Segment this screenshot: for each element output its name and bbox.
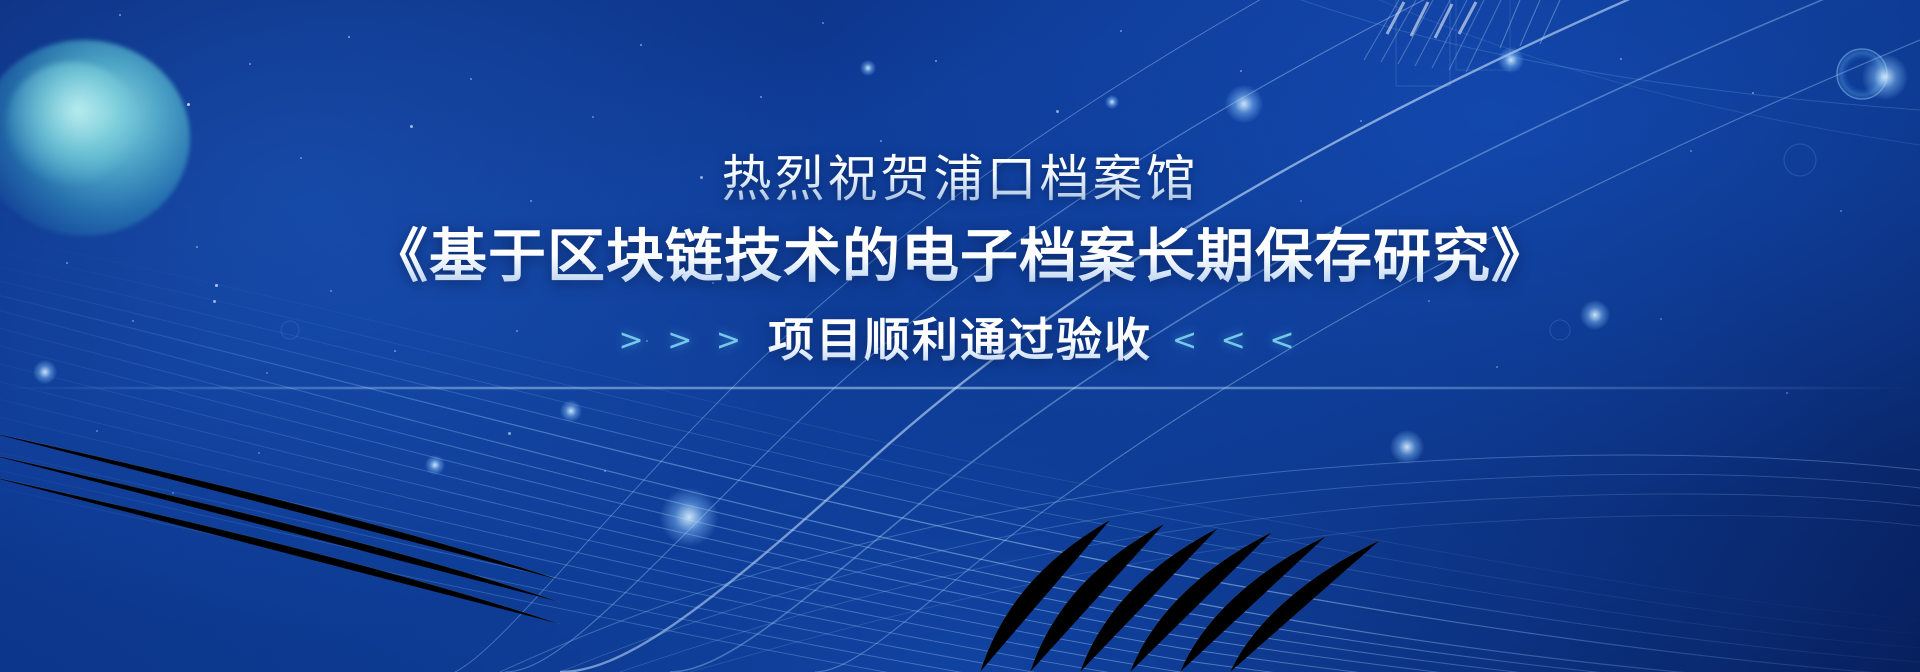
star — [1120, 30, 1122, 32]
star — [592, 116, 594, 118]
star — [1360, 120, 1362, 122]
star — [1240, 70, 1242, 72]
star — [1620, 58, 1622, 60]
headline-line-3-row: > > > 项目顺利通过验收 < < < — [0, 312, 1920, 368]
star — [172, 492, 174, 494]
star — [1056, 110, 1059, 113]
star — [258, 452, 260, 454]
chevron-right-icon: > > > — [619, 323, 752, 358]
glow-dot — [1862, 54, 1908, 100]
glow-dot — [1105, 95, 1119, 109]
star — [266, 372, 268, 374]
glow-dot — [560, 400, 582, 422]
glow-dot — [860, 60, 876, 76]
star — [187, 103, 190, 106]
star — [1752, 92, 1754, 94]
star — [935, 60, 937, 62]
glow-dot — [1390, 430, 1424, 464]
glow-dot — [425, 455, 445, 475]
glow-dot — [1225, 85, 1263, 123]
headline-line-1: 热烈祝贺浦口档案馆 — [0, 150, 1920, 208]
star — [880, 140, 882, 142]
celebration-banner: 热烈祝贺浦口档案馆 《基于区块链技术的电子档案长期保存研究》 > > > 项目顺… — [0, 0, 1920, 672]
star — [119, 14, 121, 16]
headline-line-2: 《基于区块链技术的电子档案长期保存研究》 — [0, 222, 1920, 292]
divider-glow-line — [0, 387, 1920, 389]
headline-text-block: 热烈祝贺浦口档案馆 《基于区块链技术的电子档案长期保存研究》 > > > 项目顺… — [0, 150, 1920, 368]
star — [604, 470, 606, 472]
star — [822, 22, 824, 24]
chevron-left-icon: < < < — [1168, 323, 1301, 358]
star — [410, 125, 413, 128]
star — [508, 432, 511, 435]
glow-dot — [660, 488, 718, 546]
star — [470, 78, 472, 80]
star — [760, 96, 762, 98]
glow-dot — [1498, 47, 1524, 73]
star — [348, 36, 350, 38]
star — [249, 63, 251, 65]
star — [1786, 392, 1788, 394]
star — [640, 44, 642, 46]
star — [96, 430, 98, 432]
headline-line-3: 项目顺利通过验收 — [768, 312, 1152, 368]
